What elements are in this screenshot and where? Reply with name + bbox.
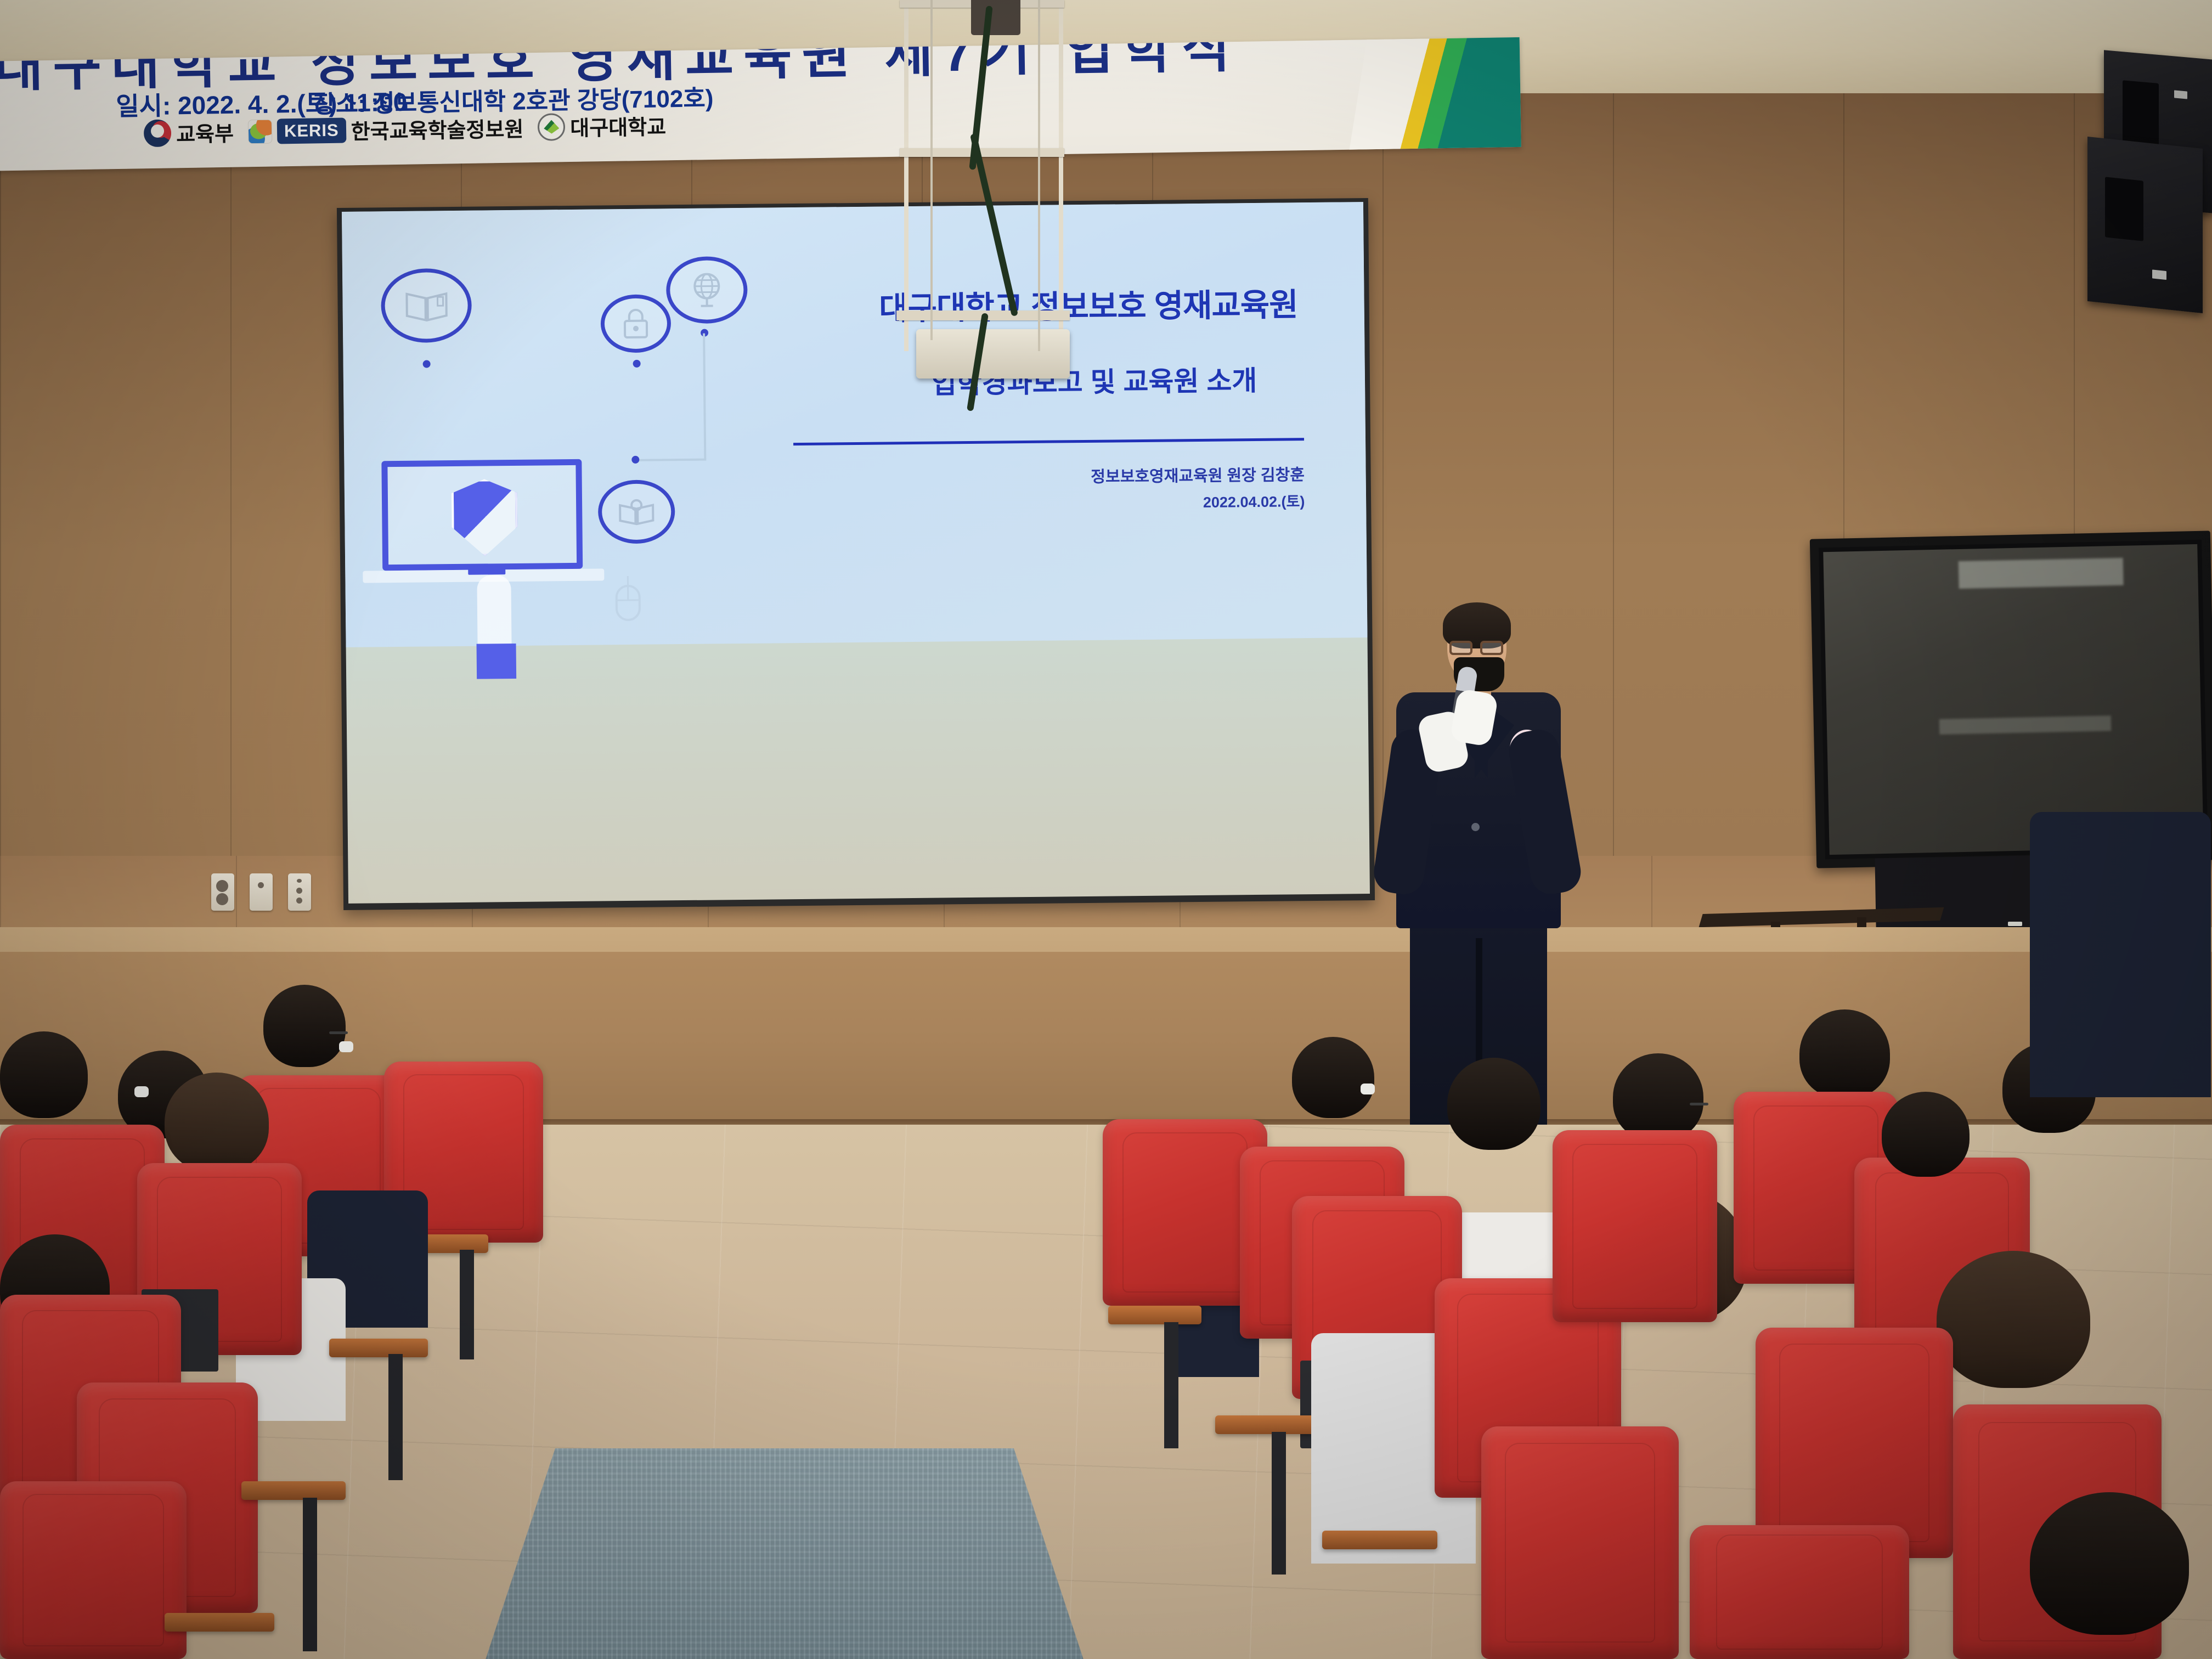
shield-glyph bbox=[452, 479, 518, 556]
sponsor-keris: KERIS 한국교육학술정보원 bbox=[248, 112, 524, 146]
audience-head bbox=[165, 1073, 269, 1172]
sponsor-label-keris: 한국교육학술정보원 bbox=[351, 112, 523, 145]
audience-head bbox=[0, 1031, 88, 1118]
face-mask bbox=[134, 1086, 149, 1097]
audience-head bbox=[1882, 1092, 1970, 1177]
seat bbox=[0, 1481, 187, 1659]
mouse-icon bbox=[608, 574, 647, 627]
eyeglasses-icon bbox=[1690, 1103, 1708, 1105]
armrest bbox=[241, 1481, 346, 1500]
slide-date: 2022.04.02.(토) bbox=[835, 489, 1305, 515]
shield-icon bbox=[452, 479, 518, 556]
hanging-wire bbox=[930, 0, 933, 340]
seat bbox=[1690, 1525, 1909, 1659]
armrest-post bbox=[303, 1498, 317, 1651]
face-mask bbox=[1361, 1084, 1375, 1094]
audience-head bbox=[1937, 1251, 2090, 1388]
bubble-dot bbox=[423, 360, 431, 368]
aisle-runner bbox=[483, 1448, 1086, 1659]
display-glass bbox=[1823, 544, 2203, 855]
slide-presenter: 정보보호영재교육원 원장 김창훈 bbox=[834, 462, 1305, 489]
armrest-post bbox=[388, 1354, 403, 1480]
speaker-port bbox=[2105, 177, 2143, 241]
audience-head bbox=[1447, 1058, 1541, 1150]
keris-leaf-icon bbox=[248, 119, 273, 144]
armrest-post bbox=[1272, 1432, 1286, 1575]
projector-ceiling-mount bbox=[971, 0, 1020, 35]
lock-glyph bbox=[620, 308, 652, 340]
rig-rod bbox=[904, 0, 909, 351]
projector bbox=[916, 329, 1070, 379]
armrest bbox=[1322, 1531, 1437, 1549]
audience-head bbox=[1613, 1053, 1703, 1141]
display-reflection bbox=[1939, 715, 2111, 734]
armrest bbox=[1108, 1306, 1201, 1324]
projection-screen: 대구대학교 정보보호 영재교육원 입학경과보고 및 교육원 소개 정보보호영재교… bbox=[337, 198, 1375, 910]
keris-badge: KERIS bbox=[277, 117, 346, 144]
audience-head bbox=[1292, 1037, 1374, 1118]
display-reflection bbox=[1958, 558, 2123, 589]
armrest bbox=[165, 1613, 274, 1632]
book-glyph bbox=[404, 288, 449, 324]
projector-mount-rig bbox=[878, 0, 1108, 384]
hanging-wire bbox=[1038, 0, 1040, 351]
daegu-university-seal-icon bbox=[538, 113, 566, 141]
audience-body bbox=[2030, 812, 2211, 1097]
wall-outlet-data[interactable] bbox=[250, 873, 273, 911]
wall-outlet-power[interactable] bbox=[211, 873, 234, 911]
armrest bbox=[1215, 1415, 1314, 1434]
audience-head bbox=[1799, 1009, 1890, 1098]
sponsor-label-daegu: 대구대학교 bbox=[570, 110, 667, 142]
seat bbox=[1481, 1426, 1679, 1659]
display-power-led bbox=[2008, 922, 2022, 926]
auditorium-presentation-scene: 대구대학교 정보보호 영재교육원 제7기 입학식 일시: 2022. 4. 2.… bbox=[0, 0, 2212, 1659]
globe-glyph bbox=[689, 270, 725, 309]
power-cable bbox=[970, 133, 1018, 317]
armrest bbox=[329, 1339, 428, 1357]
speaker-port bbox=[2123, 80, 2159, 149]
sponsor-label-moe: 교육부 bbox=[176, 117, 234, 148]
hand-cuff bbox=[477, 644, 517, 679]
eyeglasses-icon bbox=[329, 1031, 348, 1034]
presenter-suit-button bbox=[1471, 823, 1480, 831]
sponsor-daegu-university: 대구대학교 bbox=[538, 110, 667, 142]
laptop-hinge bbox=[468, 566, 505, 575]
audience-head bbox=[263, 985, 346, 1067]
eyeglasses-icon bbox=[1449, 641, 1504, 655]
open-book-search-glyph bbox=[618, 496, 656, 528]
bubble-dot bbox=[633, 360, 641, 368]
sponsor-ministry-of-education: 교육부 bbox=[144, 117, 234, 149]
face-mask bbox=[339, 1041, 353, 1052]
seat bbox=[1553, 1130, 1717, 1322]
rig-rod bbox=[1059, 0, 1063, 351]
wall-outlet-av[interactable] bbox=[288, 873, 311, 911]
speaker-lower bbox=[2087, 137, 2203, 313]
taegeuk-icon bbox=[144, 119, 172, 147]
speaker-tag bbox=[2152, 269, 2166, 280]
audience-head bbox=[2030, 1492, 2189, 1635]
bubble-dot bbox=[631, 456, 639, 464]
seat bbox=[1756, 1328, 1953, 1558]
armrest-post bbox=[460, 1250, 474, 1359]
armrest-post bbox=[1164, 1322, 1178, 1448]
speaker-tag bbox=[2174, 90, 2187, 99]
screen-surface: 대구대학교 정보보호 영재교육원 입학경과보고 및 교육원 소개 정보보호영재교… bbox=[342, 202, 1370, 904]
